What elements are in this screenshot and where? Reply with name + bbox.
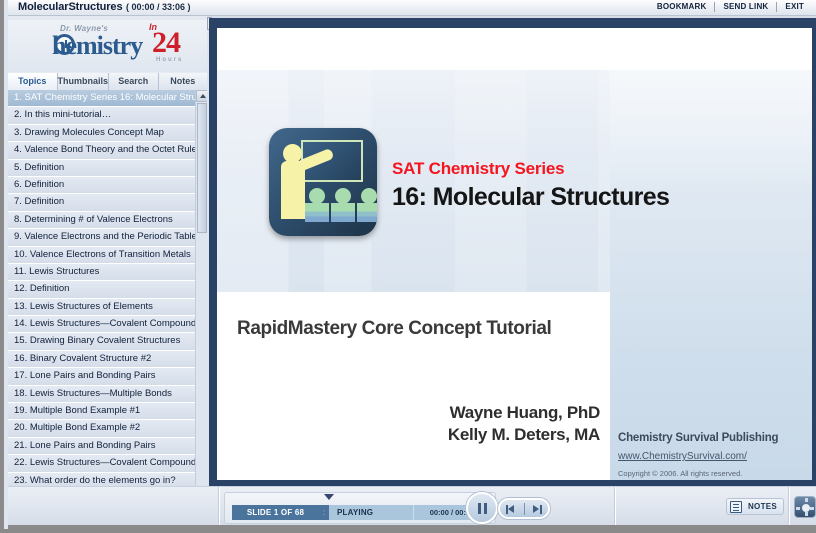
slide-series-label: SAT Chemistry Series: [392, 159, 564, 179]
student-shape: [357, 188, 377, 222]
list-item[interactable]: 15. Drawing Binary Covalent Structures: [8, 333, 195, 350]
tab-topics[interactable]: Topics: [8, 73, 58, 90]
sidebar-tabs: Topics Thumbnails Search Notes: [8, 72, 207, 91]
slide-tagline: RapidMastery Core Concept Tutorial: [237, 318, 551, 340]
slide-author-secondary: Kelly M. Deters, MA: [395, 425, 600, 445]
list-item[interactable]: 10. Valence Electrons of Transition Meta…: [8, 247, 195, 264]
list-item[interactable]: 5. Definition: [8, 160, 195, 177]
list-item[interactable]: 12. Definition: [8, 281, 195, 298]
playback-buttons: [460, 490, 552, 526]
status-divider-dots: :: [319, 505, 329, 520]
slide-url-link[interactable]: www.ChemistrySurvival.com/: [618, 451, 747, 462]
slide-counter: SLIDE 1 OF 68: [232, 505, 319, 520]
teacher-blackboard-icon: [269, 128, 377, 236]
bookmark-button[interactable]: BOOKMARK: [649, 2, 715, 12]
list-item[interactable]: 8. Determining # of Valence Electrons: [8, 212, 195, 229]
slide-credits-block: Chemistry Survival Publishing www.Chemis…: [610, 70, 812, 480]
pause-button[interactable]: [466, 492, 498, 524]
list-item[interactable]: 18. Lewis Structures—Multiple Bonds: [8, 386, 195, 403]
list-item[interactable]: 20. Multiple Bond Example #2: [8, 420, 195, 437]
chevron-down-icon[interactable]: [324, 494, 334, 500]
scroll-up-icon[interactable]: [196, 90, 207, 102]
list-item[interactable]: 6. Definition: [8, 177, 195, 194]
notes-button[interactable]: NOTES: [726, 498, 784, 515]
list-item[interactable]: 4. Valence Bond Theory and the Octet Rul…: [8, 142, 195, 159]
divider: [614, 487, 616, 527]
document-icon: [730, 501, 742, 513]
fullscreen-icon[interactable]: [794, 496, 816, 518]
topics-list: 1. SAT Chemistry Series 16: Molecular St…: [8, 90, 195, 502]
student-shape: [305, 188, 329, 222]
step-buttons: [498, 498, 550, 519]
sidebar: Dr. Wayne's hemistry In 24 Hours Topics …: [8, 16, 207, 486]
list-item[interactable]: 16. Binary Covalent Structure #2: [8, 351, 195, 368]
logo: Dr. Wayne's hemistry In 24 Hours: [8, 20, 207, 72]
list-item[interactable]: 1. SAT Chemistry Series 16: Molecular St…: [8, 90, 195, 107]
list-item[interactable]: 22. Lewis Structures—Covalent Compounds: [8, 455, 195, 472]
player-controls-bar: SLIDE 1 OF 68 : PLAYING 00:00 / 00:02 NO…: [8, 486, 816, 529]
logo-wordmark: hemistry: [52, 31, 142, 61]
list-item[interactable]: 13. Lewis Structures of Elements: [8, 299, 195, 316]
list-item[interactable]: 11. Lewis Structures: [8, 264, 195, 281]
list-item[interactable]: 3. Drawing Molecules Concept Map: [8, 125, 195, 142]
slide-author-primary: Wayne Huang, PhD: [395, 403, 600, 423]
tab-search[interactable]: Search: [109, 73, 159, 90]
logo-hours-label: Hours: [156, 57, 183, 63]
logo-24-label: 24: [152, 26, 180, 60]
status-row: SLIDE 1 OF 68 : PLAYING 00:00 / 00:02: [232, 505, 490, 520]
next-slide-button[interactable]: [527, 505, 543, 514]
list-item[interactable]: 7. Definition: [8, 194, 195, 211]
page-title: MolecularStructures: [18, 1, 122, 13]
list-item[interactable]: 19. Multiple Bond Example #1: [8, 403, 195, 420]
tab-notes[interactable]: Notes: [159, 73, 208, 90]
divider: [218, 487, 220, 527]
teacher-body-shape: [281, 161, 305, 219]
slide-copyright: Copyright © 2006. All rights reserved.: [618, 469, 742, 478]
send-link-button[interactable]: SEND LINK: [714, 2, 776, 12]
exit-button[interactable]: EXIT: [776, 2, 812, 12]
previous-slide-button[interactable]: [505, 505, 521, 514]
total-time-label: ( 00:00 / 33:06 ): [126, 2, 191, 12]
tab-thumbnails[interactable]: Thumbnails: [58, 73, 110, 90]
slide-top-band: [217, 28, 812, 70]
scrollbar-thumb[interactable]: [197, 103, 207, 233]
topics-scrollbar[interactable]: [195, 90, 207, 502]
course-player-window: MolecularStructures ( 00:00 / 33:06 ) BO…: [0, 0, 816, 533]
list-item[interactable]: 17. Lone Pairs and Bonding Pairs: [8, 368, 195, 385]
header-actions: BOOKMARK SEND LINK EXIT: [649, 2, 812, 12]
slide-publisher: Chemistry Survival Publishing: [618, 432, 778, 444]
transport-panel: SLIDE 1 OF 68 : PLAYING 00:00 / 00:02: [224, 492, 496, 524]
list-item[interactable]: 9. Valence Electrons and the Periodic Ta…: [8, 229, 195, 246]
divider: [788, 487, 790, 527]
notes-button-label: NOTES: [742, 502, 783, 511]
student-shape: [331, 188, 355, 222]
list-item[interactable]: 14. Lewis Structures—Covalent Compounds: [8, 316, 195, 333]
playback-status: PLAYING: [329, 505, 413, 520]
slide-canvas[interactable]: SAT Chemistry Series 16: Molecular Struc…: [217, 28, 812, 480]
list-item[interactable]: 21. Lone Pairs and Bonding Pairs: [8, 438, 195, 455]
topics-panel: 1. SAT Chemistry Series 16: Molecular St…: [8, 90, 207, 502]
list-item[interactable]: 2. In this mini-tutorial…: [8, 107, 195, 124]
title-bar: MolecularStructures ( 00:00 / 33:06 ) BO…: [8, 0, 816, 16]
slide-stage: SAT Chemistry Series 16: Molecular Struc…: [209, 18, 816, 486]
